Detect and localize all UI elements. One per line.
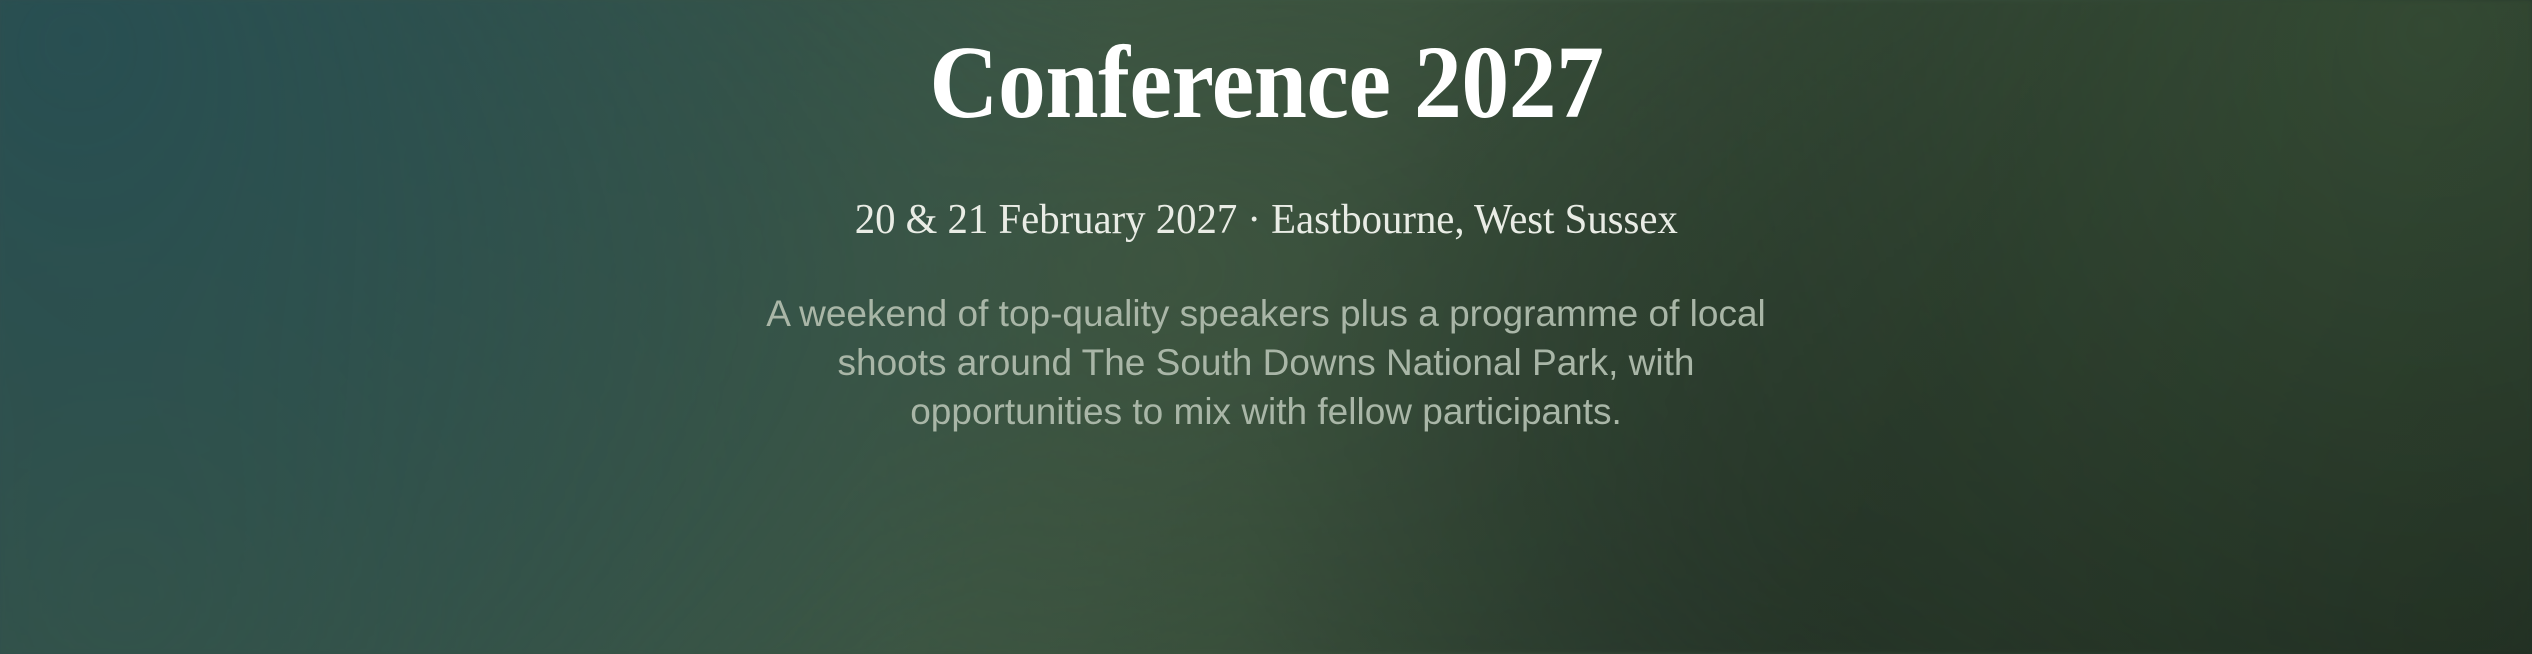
event-date-location: 20 & 21 February 2027 · Eastbourne, West… — [854, 195, 1677, 245]
conference-hero-banner: Conference 2027 20 & 21 February 2027 · … — [0, 0, 2532, 654]
page-title: Conference 2027 — [929, 28, 1603, 137]
hero-content: Conference 2027 20 & 21 February 2027 · … — [0, 0, 2532, 436]
event-description: A weekend of top-quality speakers plus a… — [736, 289, 1796, 437]
